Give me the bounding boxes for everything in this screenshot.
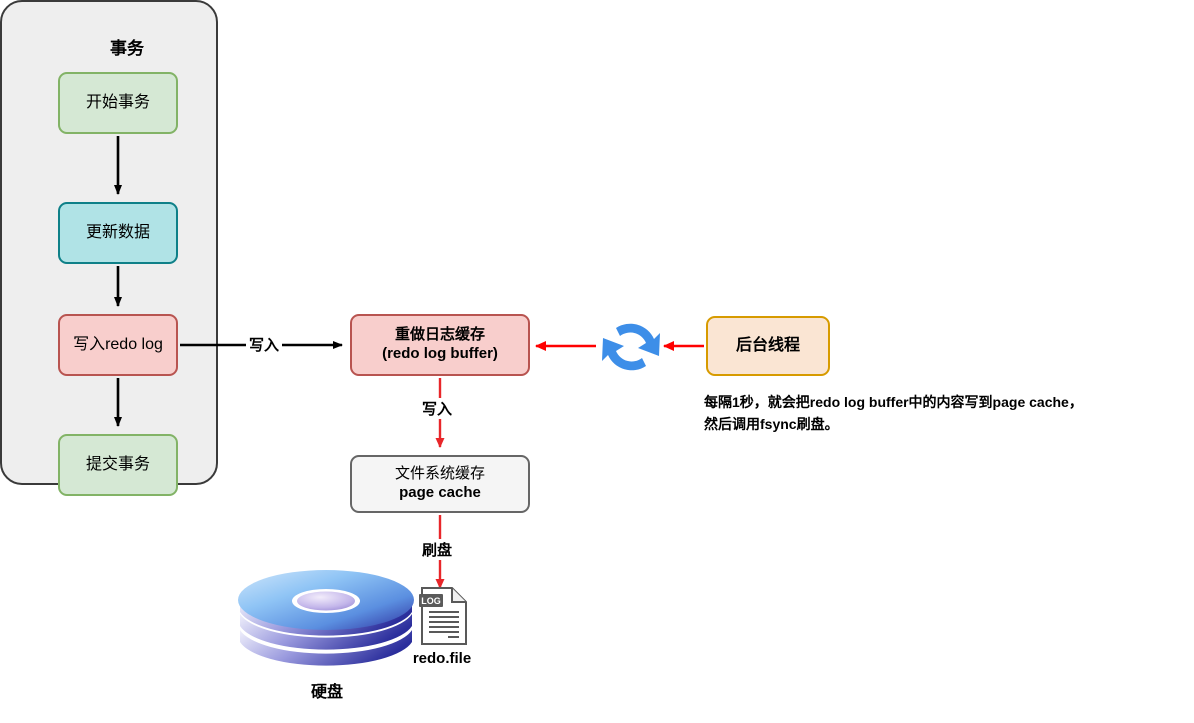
svg-text:LOG: LOG	[421, 596, 441, 606]
edge-label-write-to-buffer: 写入	[246, 334, 282, 355]
node-redo-log-buffer[interactable]: 重做日志缓存 (redo log buffer)	[350, 314, 530, 376]
node-update-data-label: 更新数据	[86, 223, 150, 243]
log-file-icon: LOG	[418, 586, 470, 646]
annotation-line-1: 每隔1秒，就会把redo log buffer中的内容写到page cache，	[704, 392, 1182, 414]
annotation-text: 每隔1秒，就会把redo log buffer中的内容写到page cache，…	[704, 392, 1182, 435]
node-background-thread[interactable]: 后台线程	[706, 316, 830, 376]
node-begin-transaction-label: 开始事务	[86, 93, 150, 113]
annotation-line-2: 然后调用fsync刷盘。	[704, 414, 1182, 436]
node-begin-transaction[interactable]: 开始事务	[58, 72, 178, 134]
hard-disk-label: 硬盘	[232, 678, 422, 702]
sync-arrows-icon	[596, 312, 666, 382]
node-redo-log-buffer-line1: 重做日志缓存	[395, 326, 485, 345]
node-page-cache[interactable]: 文件系统缓存 page cache	[350, 455, 530, 513]
node-page-cache-line1: 文件系统缓存	[395, 465, 485, 484]
node-commit-transaction[interactable]: 提交事务	[58, 434, 178, 496]
node-update-data[interactable]: 更新数据	[58, 202, 178, 264]
node-write-redo-log[interactable]: 写入redo log	[58, 314, 178, 376]
edge-label-write-to-pagecache: 写入	[419, 398, 455, 419]
redo-file-label: redo.file	[382, 650, 502, 667]
node-background-thread-label: 后台线程	[736, 336, 800, 356]
node-redo-log-buffer-line2: (redo log buffer)	[382, 345, 498, 364]
node-page-cache-line2: page cache	[399, 484, 481, 503]
node-write-redo-log-label: 写入redo log	[73, 335, 163, 355]
node-commit-transaction-label: 提交事务	[86, 455, 150, 475]
transaction-group-title: 事务	[18, 34, 236, 59]
edge-label-flush-to-disk: 刷盘	[419, 539, 455, 560]
